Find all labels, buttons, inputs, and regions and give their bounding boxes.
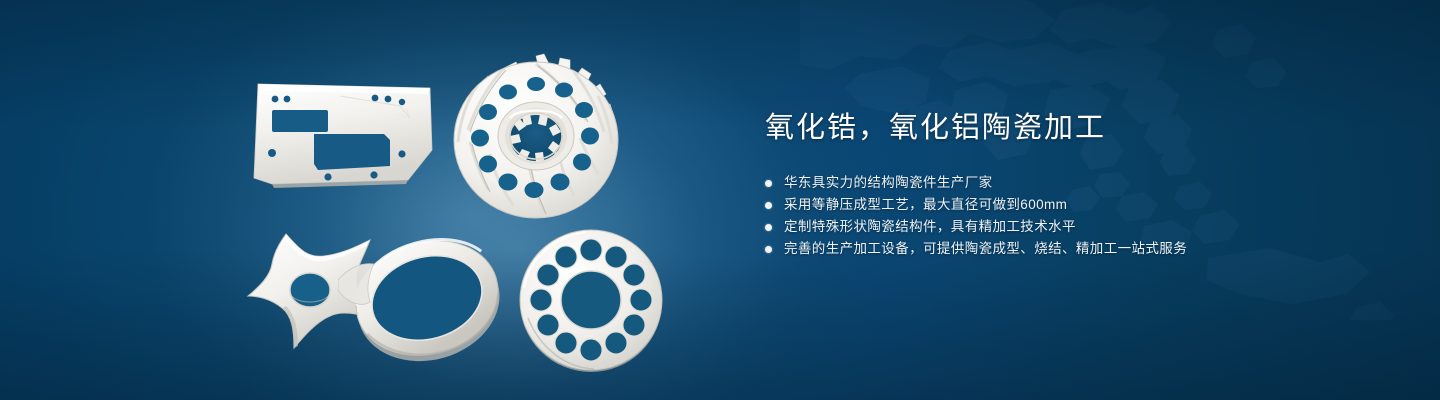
list-item: 完善的生产加工设备，可提供陶瓷成型、烧结、精加工一站式服务 (765, 238, 1385, 260)
list-item-label: 采用等静压成型工艺，最大直径可做到600mm (784, 194, 1067, 216)
bullet-dot-icon (765, 180, 772, 187)
banner-text-block: 氧化锆，氧化铝陶瓷加工 华东具实力的结构陶瓷件生产厂家 采用等静压成型工艺，最大… (765, 108, 1385, 260)
list-item-label: 完善的生产加工设备，可提供陶瓷成型、烧结、精加工一站式服务 (784, 238, 1187, 260)
list-item-label: 定制特殊形状陶瓷结构件，具有精加工技术水平 (784, 216, 1076, 238)
list-item: 华东具实力的结构陶瓷件生产厂家 (765, 172, 1385, 194)
bullet-dot-icon (765, 224, 772, 231)
list-item: 采用等静压成型工艺，最大直径可做到600mm (765, 194, 1385, 216)
bullet-dot-icon (765, 246, 772, 253)
list-item: 定制特殊形状陶瓷结构件，具有精加工技术水平 (765, 216, 1385, 238)
list-item-label: 华东具实力的结构陶瓷件生产厂家 (784, 172, 993, 194)
hero-banner: 氧化锆，氧化铝陶瓷加工 华东具实力的结构陶瓷件生产厂家 采用等静压成型工艺，最大… (0, 0, 1440, 400)
banner-feature-list: 华东具实力的结构陶瓷件生产厂家 采用等静压成型工艺，最大直径可做到600mm 定… (765, 172, 1385, 260)
bullet-dot-icon (765, 202, 772, 209)
banner-title: 氧化锆，氧化铝陶瓷加工 (765, 108, 1385, 148)
